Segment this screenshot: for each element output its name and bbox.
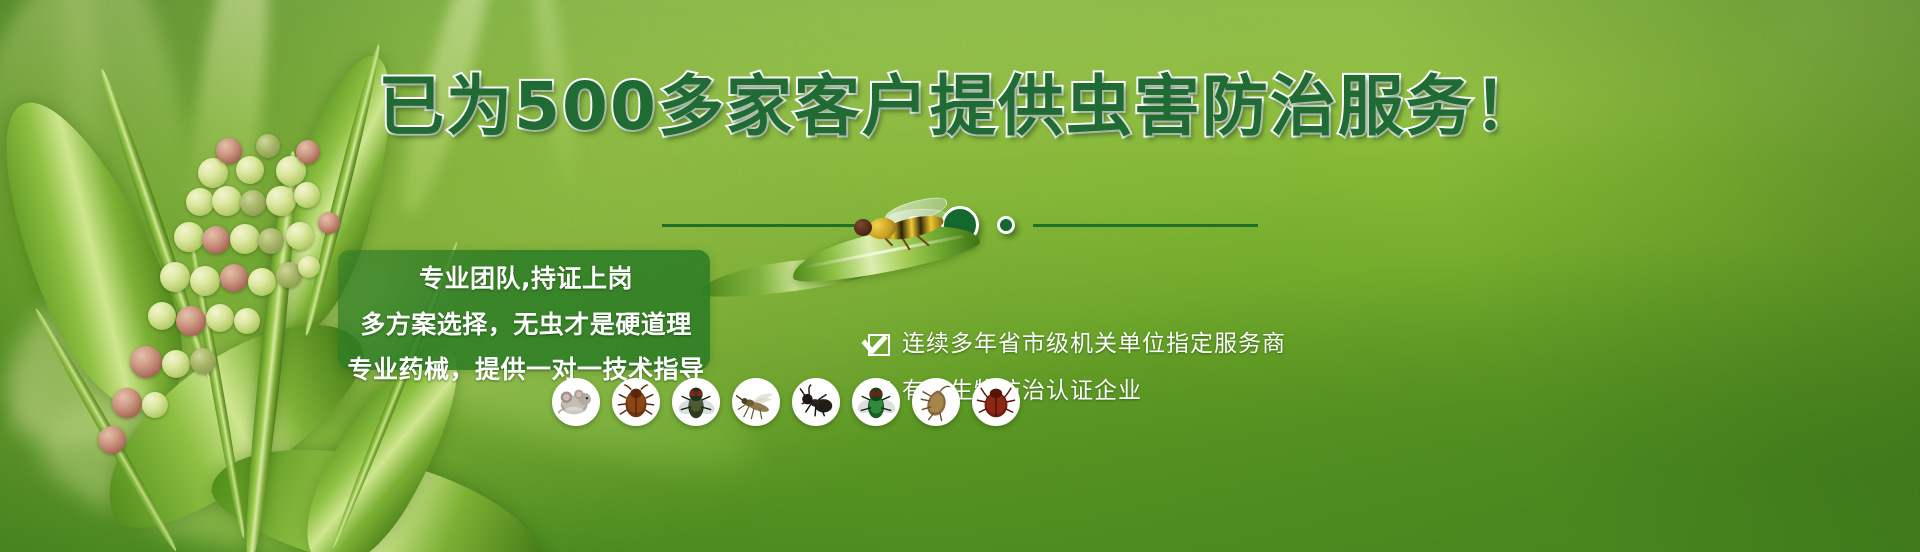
pest-icon-row xyxy=(552,378,1020,426)
housefly-icon xyxy=(672,378,720,426)
checklist-item: 连续多年省市级机关单位指定服务商 xyxy=(868,333,1286,356)
ant-icon xyxy=(792,378,840,426)
mouse-icon xyxy=(552,378,600,426)
mosquito-icon xyxy=(732,378,780,426)
banner-headline: 已为500多家客户提供虫害防治服务！ xyxy=(0,74,1920,140)
blowfly-icon xyxy=(852,378,900,426)
checkbox-checked-icon xyxy=(868,334,890,356)
slogan-panel-text: 专业团队,持证上岗 多方案选择，无虫才是硬道理 专业药械，提供一对一技术指导 xyxy=(330,254,722,382)
hoverfly-icon xyxy=(848,196,958,258)
slogan-line-2: 多方案选择，无虫才是硬道理 xyxy=(330,312,722,337)
banner-headline-text: 已为500多家客户提供虫害防治服务！ xyxy=(378,68,1542,145)
promo-banner: 已为500多家客户提供虫害防治服务！ 专业团队,持证上岗 多方案选择，无虫才是硬… xyxy=(0,0,1920,552)
cockroach-icon xyxy=(612,378,660,426)
slogan-line-1: 专业团队,持证上岗 xyxy=(330,266,722,291)
checklist-item-label: 连续多年省市级机关单位指定服务商 xyxy=(902,333,1286,356)
bedbug-icon xyxy=(972,378,1020,426)
flea-icon xyxy=(912,378,960,426)
